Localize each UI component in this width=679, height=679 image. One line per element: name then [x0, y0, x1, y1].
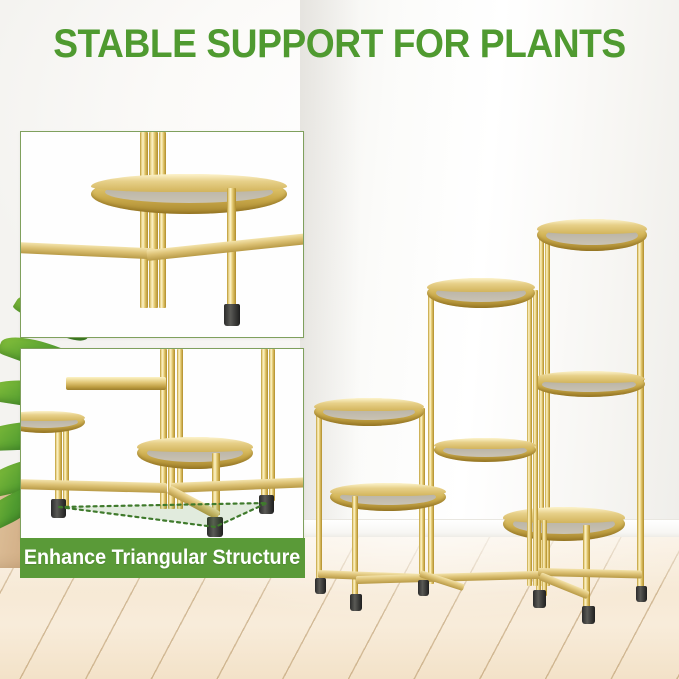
tray-mid-low [434, 438, 536, 462]
post-tall-right [637, 232, 644, 592]
foot-short-front [350, 594, 362, 611]
tray-tall-mid [533, 371, 645, 397]
tray-tall-low [503, 507, 625, 541]
panel-caption-bar: Enhance Triangular Structure [20, 538, 305, 578]
tray-lip [330, 483, 446, 496]
post-mid-left [428, 290, 434, 584]
tray-lip [427, 278, 535, 292]
tray-lip [434, 438, 536, 449]
foot-tall-center [533, 590, 546, 608]
post-tall-center-b [542, 520, 547, 596]
panel1-center-pole-a [140, 132, 148, 308]
wall-corner-shadow [300, 0, 360, 540]
tray-short-low [330, 483, 446, 511]
tray-short-top [314, 398, 424, 426]
panel-caption-text: Enhance Triangular Structure [24, 546, 300, 570]
page-title: STABLE SUPPORT FOR PLANTS [24, 22, 655, 67]
tray-tall-top [537, 219, 647, 251]
tray-lip [533, 371, 645, 383]
panel-content [21, 349, 303, 539]
panel1-center-pole-b [149, 132, 158, 308]
foot-short-right [418, 580, 429, 596]
infographic-canvas: STABLE SUPPORT FOR PLANTS [0, 0, 679, 679]
foot-short-back-left [315, 578, 326, 594]
panel1-crossbar-right [146, 233, 303, 261]
tray-mid-top [427, 278, 535, 308]
panel-content [21, 132, 303, 337]
panel1-center-pole-c [159, 132, 166, 308]
post-short-left [316, 410, 322, 586]
tray-lip [91, 174, 287, 192]
inset-panel-rotation-detail [20, 131, 304, 338]
foot-tall-front [582, 606, 595, 624]
inset-panel-triangular-base [20, 348, 304, 540]
triangle-overlay-icon [21, 349, 303, 539]
tray-lip [537, 219, 647, 234]
foot-tall-right [636, 586, 647, 602]
tray-lip [503, 507, 625, 523]
panel1-crossbar-left [21, 242, 155, 259]
panel1-foot [224, 304, 240, 326]
tray-lip [314, 398, 424, 411]
panel1-tray [91, 174, 287, 214]
